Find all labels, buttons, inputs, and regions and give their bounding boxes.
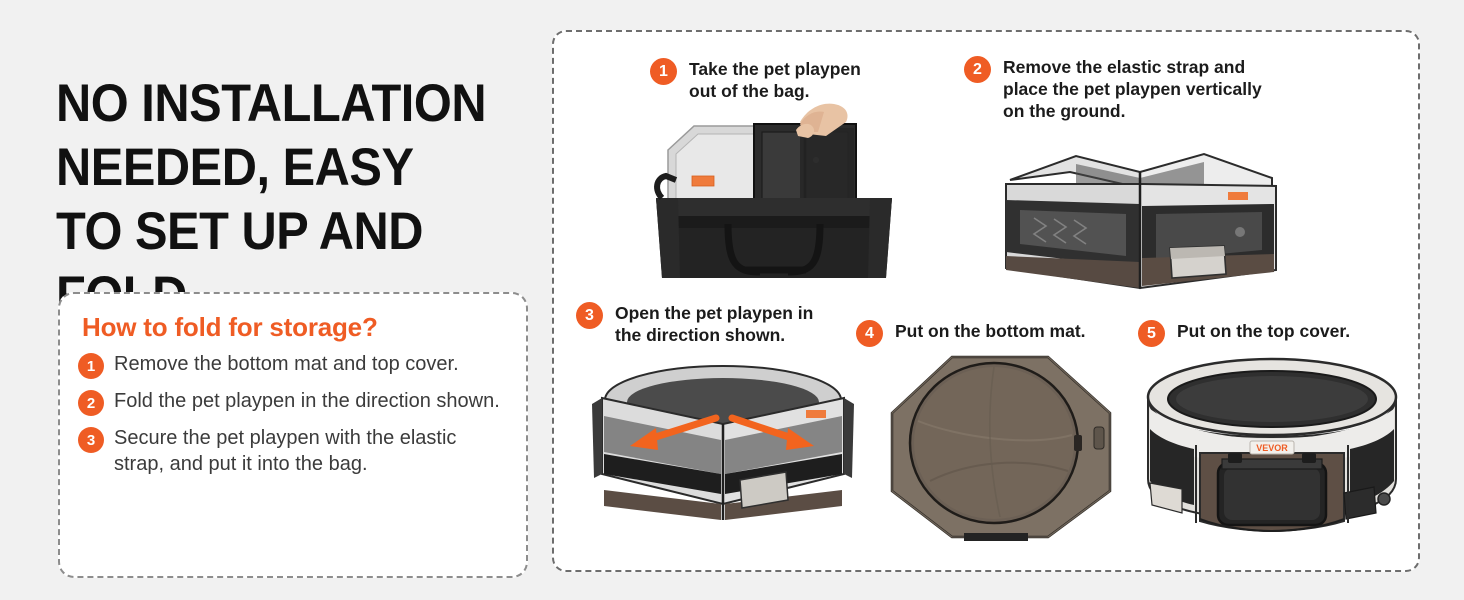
figure-playpen-folded-vertical bbox=[990, 128, 1384, 308]
setup-steps-panel: 1 Take the pet playpen out of the bag. bbox=[552, 30, 1420, 572]
step-caption: Remove the elastic strap and place the p… bbox=[1003, 56, 1262, 122]
step-number-badge: 3 bbox=[78, 427, 104, 453]
step-number-badge: 4 bbox=[856, 320, 883, 347]
step-number-badge: 1 bbox=[78, 353, 104, 379]
list-item: 3 Secure the pet playpen with the elasti… bbox=[78, 425, 508, 477]
setup-step-5: 5 Put on the top cover. bbox=[1138, 320, 1428, 543]
step-2-header: 2 Remove the elastic strap and place the… bbox=[964, 56, 1384, 122]
playpen-vertical-illustration bbox=[990, 128, 1300, 308]
step-caption: Open the pet playpen in the direction sh… bbox=[615, 302, 813, 346]
step-5-header: 5 Put on the top cover. bbox=[1138, 320, 1428, 347]
page-title: NO INSTALLATION NEEDED, EASY TO SET UP A… bbox=[56, 72, 488, 328]
step-4-header: 4 Put on the bottom mat. bbox=[856, 320, 1156, 347]
storage-panel-title: How to fold for storage? bbox=[82, 312, 508, 343]
fold-step-text: Secure the pet playpen with the elastic … bbox=[114, 425, 508, 477]
step-caption: Put on the top cover. bbox=[1177, 320, 1350, 342]
fold-step-text: Fold the pet playpen in the direction sh… bbox=[114, 388, 500, 414]
brand-label: VEVOR bbox=[1256, 443, 1288, 453]
setup-step-2: 2 Remove the elastic strap and place the… bbox=[964, 56, 1384, 308]
setup-step-3: 3 Open the pet playpen in the direction … bbox=[576, 302, 876, 534]
list-item: 1 Remove the bottom mat and top cover. bbox=[78, 351, 508, 379]
fold-for-storage-panel: How to fold for storage? 1 Remove the bo… bbox=[58, 292, 528, 578]
step-number-badge: 3 bbox=[576, 302, 603, 329]
fold-step-text: Remove the bottom mat and top cover. bbox=[114, 351, 459, 377]
step-number-badge: 1 bbox=[650, 58, 677, 85]
step-1-header: 1 Take the pet playpen out of the bag. bbox=[650, 58, 980, 102]
step-number-badge: 2 bbox=[964, 56, 991, 83]
bottom-mat-illustration bbox=[878, 351, 1124, 543]
infographic-canvas: NO INSTALLATION NEEDED, EASY TO SET UP A… bbox=[0, 0, 1464, 600]
figure-bottom-mat bbox=[878, 351, 1156, 543]
step-caption: Put on the bottom mat. bbox=[895, 320, 1086, 342]
setup-step-4: 4 Put on the bottom mat. bbox=[856, 320, 1156, 543]
list-item: 2 Fold the pet playpen in the direction … bbox=[78, 388, 508, 416]
step-caption: Take the pet playpen out of the bag. bbox=[689, 58, 861, 102]
step-number-badge: 2 bbox=[78, 390, 104, 416]
setup-step-1: 1 Take the pet playpen out of the bag. bbox=[650, 58, 980, 284]
figure-playpen-opening bbox=[590, 354, 876, 534]
figure-playpen-in-carry-bag bbox=[650, 102, 980, 284]
step-3-header: 3 Open the pet playpen in the direction … bbox=[576, 302, 876, 346]
playpen-opening-illustration bbox=[590, 354, 856, 534]
step-number-badge: 5 bbox=[1138, 320, 1165, 347]
fold-steps-list: 1 Remove the bottom mat and top cover. 2… bbox=[78, 351, 508, 477]
figure-playpen-assembled: VEVOR bbox=[1138, 353, 1428, 543]
assembled-playpen-illustration: VEVOR bbox=[1138, 353, 1406, 543]
carry-bag-illustration bbox=[650, 102, 898, 284]
